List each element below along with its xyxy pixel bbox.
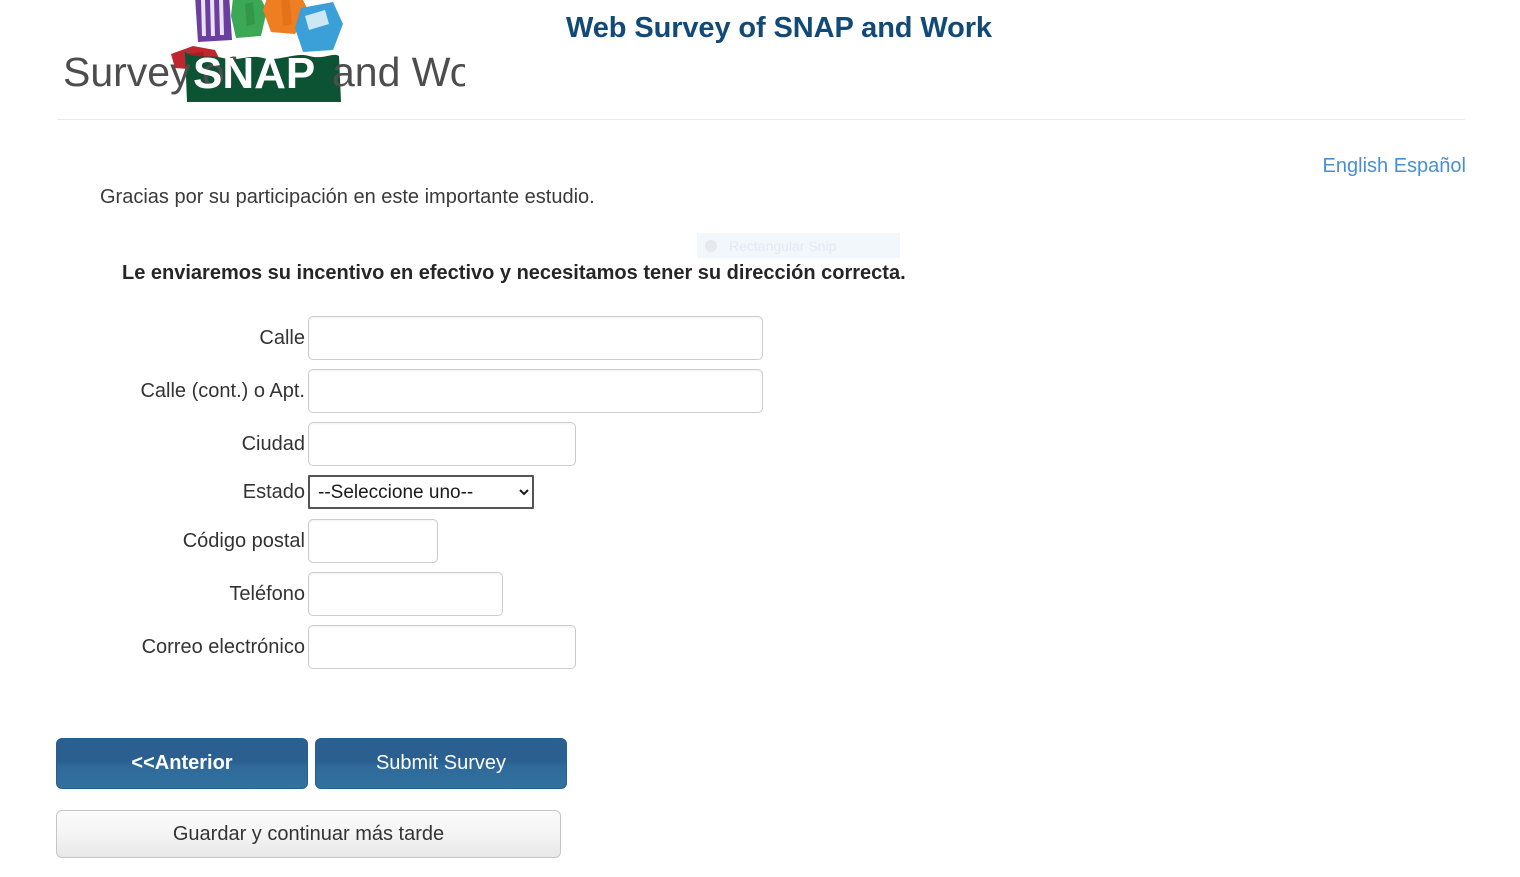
language-link-english[interactable]: English bbox=[1323, 155, 1389, 177]
email-input[interactable] bbox=[308, 625, 576, 669]
address-form: Calle Calle (cont.) o Apt. Ciudad Estado… bbox=[0, 316, 1520, 678]
form-row-street: Calle bbox=[0, 316, 1520, 360]
city-input[interactable] bbox=[308, 422, 576, 466]
street2-input[interactable] bbox=[308, 369, 763, 413]
header-divider bbox=[57, 119, 1465, 120]
label-phone: Teléfono bbox=[0, 583, 308, 606]
incentive-notice: Le enviaremos su incentivo en efectivo y… bbox=[122, 262, 906, 285]
circle-icon bbox=[705, 240, 717, 252]
intro-text: Gracias por su participación en este imp… bbox=[100, 186, 595, 209]
label-email: Correo electrónico bbox=[0, 636, 308, 659]
language-selector: English Español bbox=[1323, 155, 1466, 178]
street-input[interactable] bbox=[308, 316, 763, 360]
label-zip: Código postal bbox=[0, 530, 308, 553]
form-actions: <<Anterior Submit Survey Guardar y conti… bbox=[56, 738, 567, 858]
state-select[interactable]: --Seleccione uno-- bbox=[308, 475, 534, 509]
form-row-city: Ciudad bbox=[0, 422, 1520, 466]
submit-survey-button[interactable]: Submit Survey bbox=[315, 738, 567, 789]
logo-wordmark-right: and Work bbox=[332, 49, 465, 95]
save-and-continue-button[interactable]: Guardar y continuar más tarde bbox=[56, 810, 561, 858]
zip-input[interactable] bbox=[308, 519, 438, 563]
rectangular-snip-overlay: Rectangular Snip bbox=[697, 233, 900, 258]
previous-button[interactable]: <<Anterior bbox=[56, 738, 308, 789]
logo-graphic: ™ Survey of SNAP and Work bbox=[33, 0, 465, 106]
primary-button-row: <<Anterior Submit Survey bbox=[56, 738, 567, 789]
label-city: Ciudad bbox=[0, 433, 308, 456]
form-row-phone: Teléfono bbox=[0, 572, 1520, 616]
language-link-spanish[interactable]: Español bbox=[1394, 155, 1466, 177]
form-row-email: Correo electrónico bbox=[0, 625, 1520, 669]
logo-wordmark-brand: SNAP bbox=[193, 49, 315, 98]
snap-survey-logo: ™ Survey of SNAP and Work bbox=[33, 0, 465, 106]
form-row-state: Estado --Seleccione uno-- bbox=[0, 475, 1520, 509]
label-street: Calle bbox=[0, 327, 308, 350]
label-state: Estado bbox=[0, 481, 308, 504]
snip-overlay-label: Rectangular Snip bbox=[729, 238, 836, 254]
form-row-street2: Calle (cont.) o Apt. bbox=[0, 369, 1520, 413]
phone-input[interactable] bbox=[308, 572, 503, 616]
label-street2: Calle (cont.) o Apt. bbox=[0, 380, 308, 403]
page-header: ™ Survey of SNAP and Work Web Survey of … bbox=[0, 0, 1520, 110]
form-row-zip: Código postal bbox=[0, 519, 1520, 563]
page-title: Web Survey of SNAP and Work bbox=[566, 12, 992, 45]
